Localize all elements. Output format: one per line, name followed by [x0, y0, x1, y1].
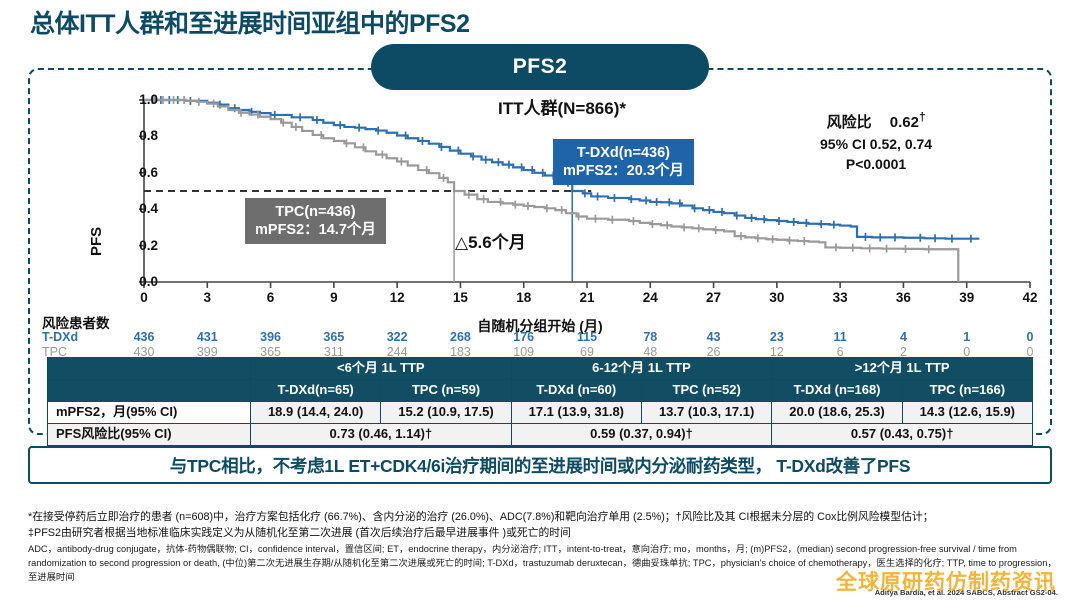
hazard-ratio-line: 风险比 0.62† — [820, 110, 932, 134]
numbers-at-risk-value: 0 — [1027, 330, 1034, 344]
subgroup-arm-2: T-DXd (n=60) — [511, 379, 641, 401]
numbers-at-risk-value: 176 — [513, 330, 534, 344]
subgroup-table-arm-header-row: T-DXd(n=65) TPC (n=59) T-DXd (n=60) TPC … — [48, 379, 1033, 401]
subgroup-arm-0: T-DXd(n=65) — [251, 379, 381, 401]
x-tick-label: 30 — [769, 290, 784, 305]
footnote-primary: *在接受停药后立即治疗的患者 (n=608)中，治疗方案包括化疗 (66.7%)… — [28, 510, 1058, 541]
numbers-at-risk-value: 23 — [770, 330, 784, 344]
footnote-line1: *在接受停药后立即治疗的患者 (n=608)中，治疗方案包括化疗 (66.7%)… — [28, 510, 1058, 526]
subgroup-table-corner — [48, 358, 251, 380]
callout-tpc-line2: mPFS2：14.7个月 — [255, 221, 376, 239]
mpfs2-cell-2: 17.1 (13.9, 31.8) — [511, 401, 641, 423]
numbers-at-risk-value: 1 — [963, 330, 970, 344]
y-tick-label: 0.0 — [124, 274, 158, 289]
numbers-at-risk-series-label: T-DXd — [42, 330, 78, 344]
x-tick-label: 18 — [516, 290, 531, 305]
x-tick-label: 24 — [643, 290, 658, 305]
x-tick-label: 3 — [204, 290, 212, 305]
subgroup-group-0: <6个月 1L TTP — [251, 358, 512, 380]
x-tick-label: 33 — [833, 290, 848, 305]
numbers-at-risk-value: 43 — [707, 330, 721, 344]
subgroup-group-2: >12个月 1L TTP — [772, 358, 1033, 380]
delta-annotation: △5.6个月 — [455, 228, 526, 253]
footnote-line2: ‡PFS2由研究者根据当地标准临床实践定义为从随机化至第二次进展 (首次后续治疗… — [28, 526, 1058, 542]
table-row: PFS风险比(95% CI) 0.73 (0.46, 1.14)† 0.59 (… — [48, 423, 1033, 445]
row-label-hr: PFS风险比(95% CI) — [48, 423, 251, 445]
x-tick-label: 36 — [896, 290, 911, 305]
callout-tdxd-line2: mPFS2：20.3个月 — [563, 162, 684, 180]
hazard-ratio-dagger: † — [919, 111, 926, 124]
numbers-at-risk-row-tdxd: T-DXd43643139636532226817611578432311410 — [28, 330, 1052, 345]
table-row: mPFS2，月(95% CI) 18.9 (14.4, 24.0) 15.2 (… — [48, 401, 1033, 423]
hr-cell-0: 0.73 (0.46, 1.14)† — [251, 423, 512, 445]
callout-tdxd: T-DXd(n=436) mPFS2：20.3个月 — [553, 139, 694, 185]
numbers-at-risk-value: 396 — [260, 330, 281, 344]
conclusion-banner: 与TPC相比，不考虑1L ET+CDK4/6i治疗期间的至进展时间或内分泌耐药类… — [28, 446, 1052, 484]
numbers-at-risk-title: 风险患者数 — [42, 312, 110, 332]
hr-cell-1: 0.59 (0.37, 0.94)† — [511, 423, 772, 445]
numbers-at-risk-value: 268 — [450, 330, 471, 344]
x-tick-label: 15 — [453, 290, 468, 305]
mpfs2-cell-5: 14.3 (12.6, 15.9) — [902, 401, 1032, 423]
mpfs2-cell-4: 20.0 (18.6, 25.3) — [772, 401, 902, 423]
numbers-at-risk-value: 436 — [134, 330, 155, 344]
numbers-at-risk-value: 431 — [197, 330, 218, 344]
x-tick-label: 42 — [1022, 290, 1037, 305]
x-tick-label: 6 — [267, 290, 275, 305]
hazard-ratio-value: 0.62 — [890, 114, 919, 131]
subgroup-table-corner-2 — [48, 379, 251, 401]
numbers-at-risk-value: 11 — [834, 330, 847, 344]
y-axis-label: PFS — [88, 227, 105, 256]
y-tick-label: 0.8 — [124, 128, 158, 143]
itt-population-label: ITT人群(N=866)* — [498, 94, 626, 119]
x-tick-label: 0 — [140, 290, 148, 305]
callout-tdxd-line1: T-DXd(n=436) — [563, 144, 684, 162]
subgroup-arm-5: TPC (n=166) — [902, 379, 1032, 401]
hazard-ratio-block: 风险比 0.62† 95% CI 0.52, 0.74 P<0.0001 — [820, 110, 932, 174]
y-tick-label: 0.2 — [124, 238, 158, 253]
mpfs2-cell-1: 15.2 (10.9, 17.5) — [381, 401, 511, 423]
hr-cell-2: 0.57 (0.43, 0.75)† — [772, 423, 1033, 445]
y-tick-label: 0.4 — [124, 201, 158, 216]
numbers-at-risk-value: 115 — [577, 330, 597, 344]
callout-tpc-line1: TPC(n=436) — [255, 203, 376, 221]
page-title: 总体ITT人群和至进展时间亚组中的PFS2 — [30, 4, 470, 40]
x-tick-label: 39 — [959, 290, 974, 305]
hazard-ratio-ci: 95% CI 0.52, 0.74 — [820, 134, 932, 154]
x-tick-label: 9 — [330, 290, 338, 305]
x-tick-label: 27 — [706, 290, 721, 305]
numbers-at-risk: 风险患者数 T-DXd43643139636532226817611578432… — [28, 312, 1052, 358]
row-label-mpfs2: mPFS2，月(95% CI) — [48, 401, 251, 423]
hazard-ratio-label: 风险比 — [827, 114, 872, 131]
numbers-at-risk-value: 4 — [900, 330, 907, 344]
x-tick-label: 12 — [390, 290, 405, 305]
callout-tpc: TPC(n=436) mPFS2：14.7个月 — [245, 198, 386, 244]
x-tick-label: 21 — [579, 290, 594, 305]
section-pill-pfs2: PFS2 — [371, 44, 709, 90]
hazard-ratio-pvalue: P<0.0001 — [820, 154, 932, 174]
subgroup-group-1: 6-12个月 1L TTP — [511, 358, 772, 380]
mpfs2-cell-3: 13.7 (10.3, 17.1) — [641, 401, 771, 423]
subgroup-table: <6个月 1L TTP 6-12个月 1L TTP >12个月 1L TTP T… — [47, 357, 1033, 446]
y-axis-ticks: 0.00.20.40.60.81.0 — [124, 86, 158, 316]
subgroup-arm-4: T-DXd (n=168) — [772, 379, 902, 401]
watermark: 全球原研药仿制药资讯 — [836, 566, 1056, 596]
slide: 总体ITT人群和至进展时间亚组中的PFS2 PFS2 PFS 0.00.20.4… — [0, 0, 1080, 607]
subgroup-arm-1: TPC (n=59) — [381, 379, 511, 401]
y-tick-label: 0.6 — [124, 165, 158, 180]
numbers-at-risk-value: 322 — [387, 330, 408, 344]
subgroup-arm-3: TPC (n=52) — [641, 379, 771, 401]
numbers-at-risk-value: 78 — [643, 330, 657, 344]
subgroup-table-group-header-row: <6个月 1L TTP 6-12个月 1L TTP >12个月 1L TTP — [48, 358, 1033, 380]
mpfs2-cell-0: 18.9 (14.4, 24.0) — [251, 401, 381, 423]
numbers-at-risk-value: 365 — [323, 330, 344, 344]
